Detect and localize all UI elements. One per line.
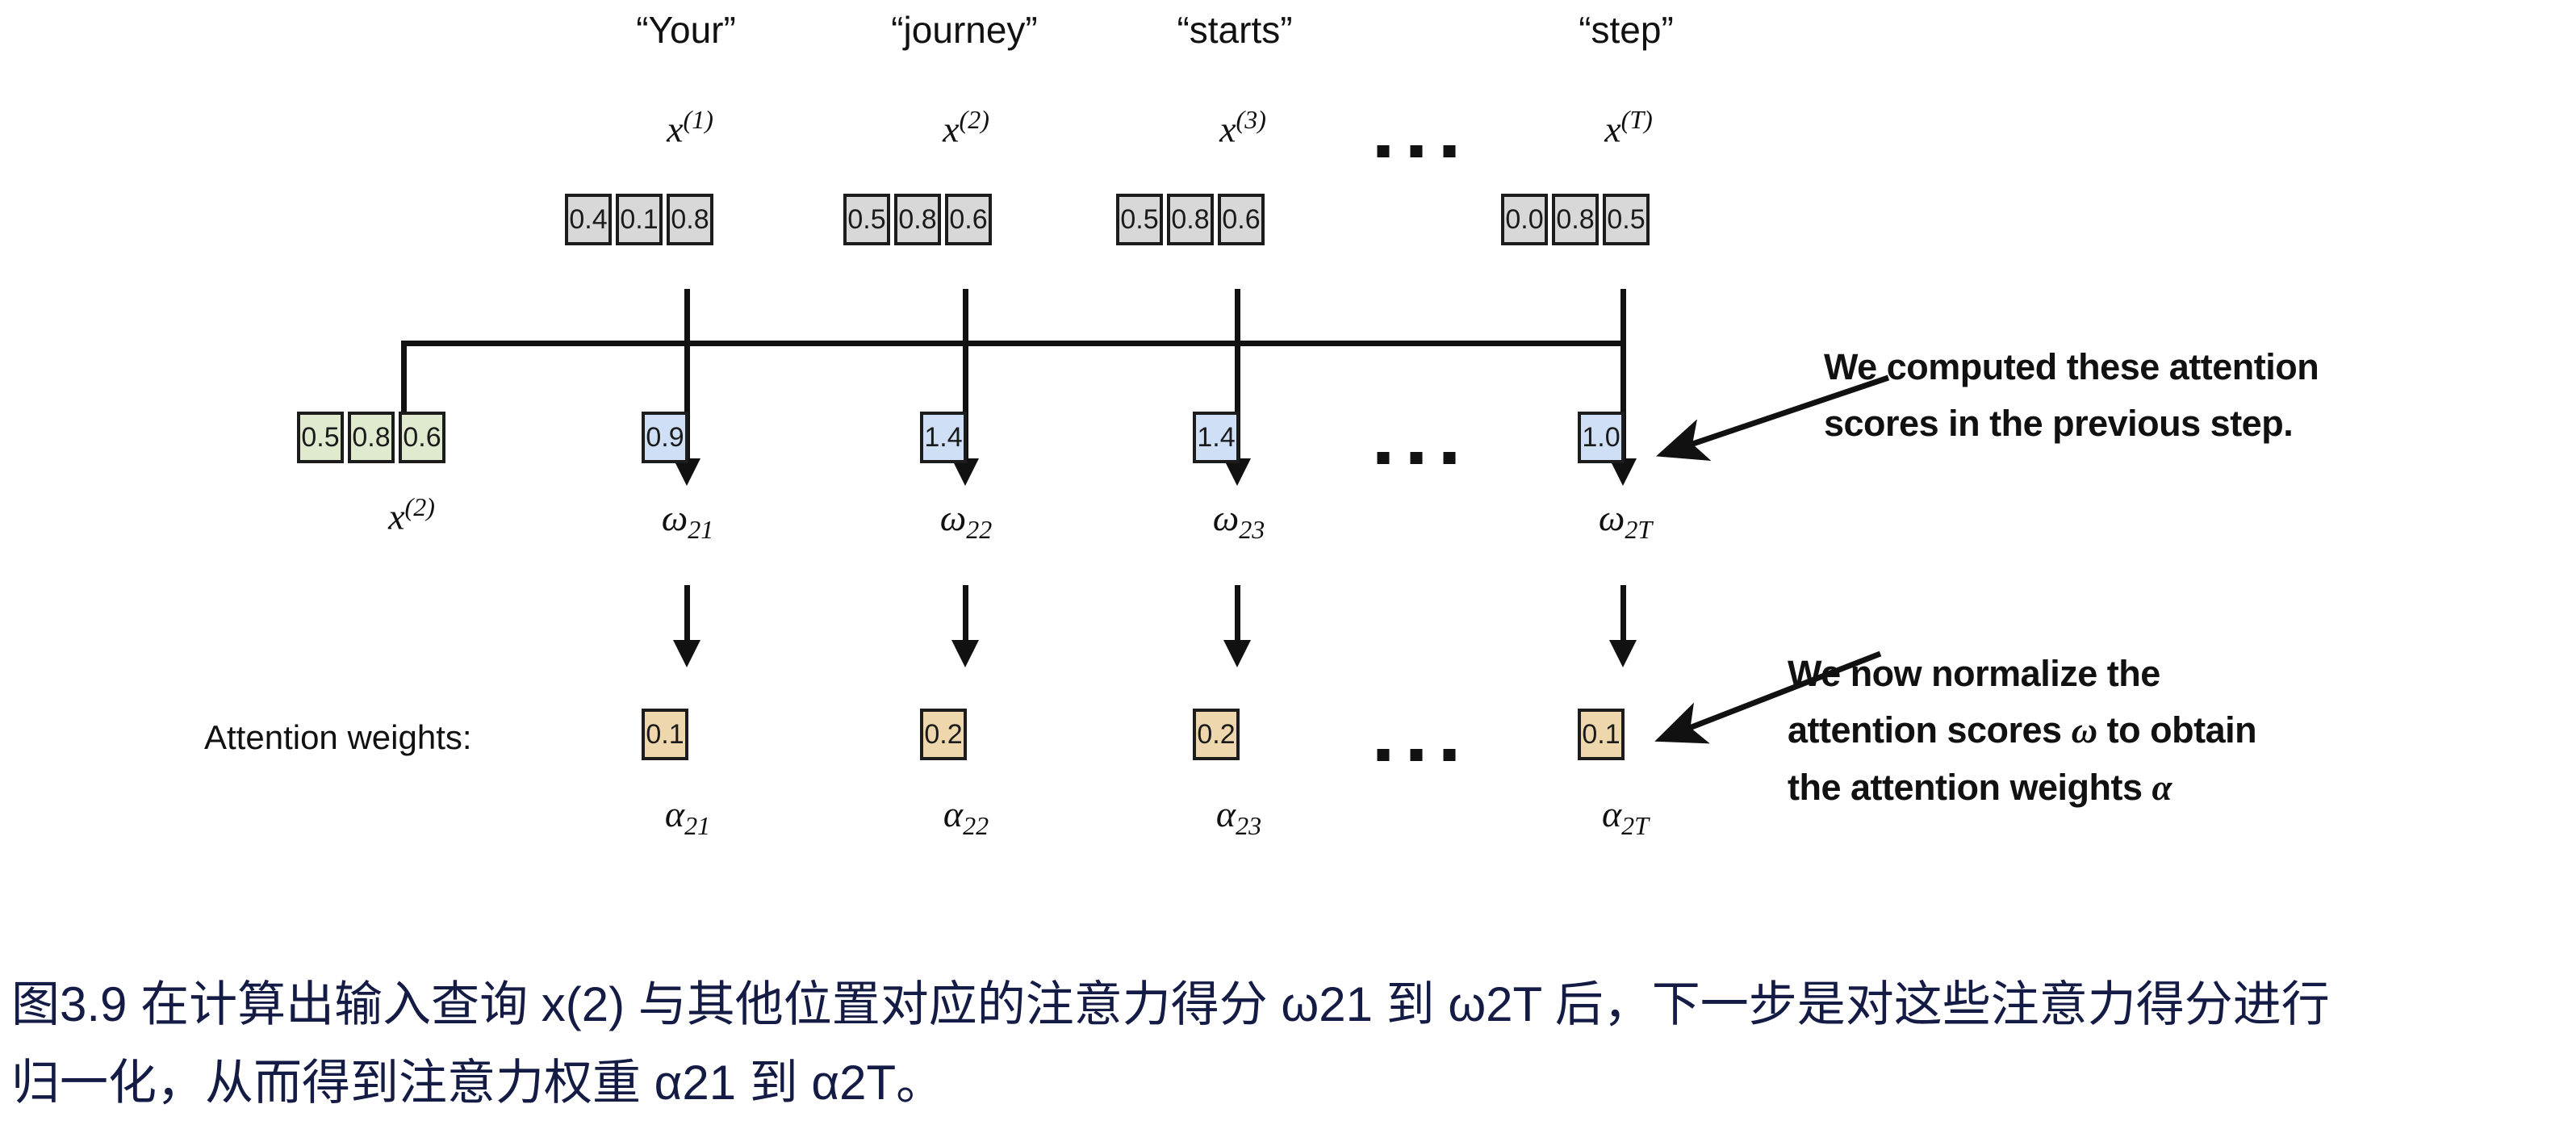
query-symbol-base: x bbox=[388, 496, 404, 537]
weight-connector-arrowhead-3 bbox=[1223, 640, 1251, 667]
ellipsis-weight-row bbox=[1378, 749, 1456, 761]
figure-caption: 图3.9 在计算出输入查询 x(2) 与其他位置对应的注意力得分 ω21 到 ω… bbox=[11, 965, 2570, 1122]
weight-label-base-2: α bbox=[943, 793, 963, 834]
weight-connector-line-1 bbox=[684, 585, 690, 646]
score-label-4: ω2T bbox=[1599, 496, 1652, 545]
weight-label-sub-3: 23 bbox=[1236, 811, 1261, 840]
token-word-1: “Your” bbox=[636, 8, 736, 52]
scores-note-line-1: We computed these attention bbox=[1824, 339, 2319, 395]
ellipsis-top-row bbox=[1378, 145, 1456, 157]
embedding-cell: 0.1 bbox=[616, 194, 663, 245]
weight-label-base-4: α bbox=[1602, 793, 1621, 834]
query-cell: 0.6 bbox=[399, 412, 445, 463]
weight-cell: 0.2 bbox=[1193, 709, 1240, 760]
ellipsis-score-row bbox=[1378, 452, 1456, 464]
embedding-cell: 0.5 bbox=[1116, 194, 1163, 245]
weight-connector-line-4 bbox=[1620, 585, 1626, 646]
attention-weights-label: Attention weights: bbox=[204, 718, 472, 757]
token-symbol-base-2: x bbox=[943, 108, 959, 149]
query-vector-row: 0.5 0.8 0.6 bbox=[297, 412, 445, 463]
token-symbol-base-3: x bbox=[1219, 108, 1236, 149]
token-symbol-3: x(3) bbox=[1219, 105, 1266, 150]
weight-label-3: α23 bbox=[1216, 793, 1261, 841]
token-symbol-2: x(2) bbox=[943, 105, 989, 150]
score-cell: 1.4 bbox=[1193, 412, 1240, 463]
bus-horizontal-line bbox=[401, 341, 1624, 346]
embedding-cell: 0.8 bbox=[1552, 194, 1599, 245]
score-label-sub-4: 2T bbox=[1625, 515, 1652, 544]
score-label-sub-1: 21 bbox=[688, 515, 713, 544]
token-word-3: “starts” bbox=[1177, 8, 1292, 52]
alpha-symbol: α bbox=[2152, 767, 2172, 808]
score-box-2: 1.4 bbox=[920, 412, 967, 463]
weight-label-4: α2T bbox=[1602, 793, 1649, 841]
embedding-cell: 0.6 bbox=[1218, 194, 1265, 245]
score-cell: 1.0 bbox=[1578, 412, 1625, 463]
score-label-2: ω22 bbox=[940, 496, 992, 545]
score-label-base-1: ω bbox=[662, 497, 688, 538]
scores-note-line-2: scores in the previous step. bbox=[1824, 395, 2319, 452]
weight-box-1: 0.1 bbox=[642, 709, 688, 760]
weight-label-base-1: α bbox=[665, 793, 684, 834]
weights-note-line-1: We now normalize the bbox=[1788, 646, 2256, 702]
embedding-row-3: 0.5 0.8 0.6 bbox=[1116, 194, 1265, 245]
weight-cell: 0.2 bbox=[920, 709, 967, 760]
embedding-cell: 0.8 bbox=[1167, 194, 1214, 245]
weight-label-sub-1: 21 bbox=[684, 811, 710, 840]
weight-label-base-3: α bbox=[1216, 793, 1236, 834]
embedding-cell: 0.6 bbox=[945, 194, 992, 245]
score-label-1: ω21 bbox=[662, 496, 713, 545]
omega-symbol: ω bbox=[2072, 710, 2097, 751]
token-word-2: “journey” bbox=[891, 8, 1038, 52]
weights-note-line-3-a: the attention weights bbox=[1788, 767, 2152, 808]
embedding-cell: 0.4 bbox=[565, 194, 612, 245]
weight-connector-arrowhead-1 bbox=[673, 640, 700, 667]
token-symbol-1: x(1) bbox=[667, 105, 713, 150]
score-box-4: 1.0 bbox=[1578, 412, 1625, 463]
token-symbol-sup-2: (2) bbox=[960, 105, 989, 134]
weight-cell: 0.1 bbox=[642, 709, 688, 760]
score-label-sub-3: 23 bbox=[1239, 515, 1265, 544]
weights-note-line-2: attention scores ω to obtain bbox=[1788, 702, 2256, 759]
query-symbol-sup: (2) bbox=[405, 492, 435, 521]
embedding-row-2: 0.5 0.8 0.6 bbox=[843, 194, 992, 245]
caption-line-1: 图3.9 在计算出输入查询 x(2) 与其他位置对应的注意力得分 ω21 到 ω… bbox=[11, 965, 2570, 1043]
token-symbol-base-4: x bbox=[1604, 108, 1620, 149]
token-symbol-sup-3: (3) bbox=[1236, 105, 1266, 134]
score-label-base-2: ω bbox=[940, 497, 966, 538]
score-box-1: 0.9 bbox=[642, 412, 688, 463]
caption-line-2: 归一化，从而得到注意力权重 α21 到 α2T。 bbox=[11, 1043, 2570, 1122]
weights-note-line-2-b: to obtain bbox=[2097, 709, 2256, 751]
weight-box-4: 0.1 bbox=[1578, 709, 1625, 760]
embedding-cell: 0.8 bbox=[894, 194, 941, 245]
scores-annotation-note: We computed these attention scores in th… bbox=[1824, 339, 2319, 452]
embedding-row-4: 0.0 0.8 0.5 bbox=[1501, 194, 1650, 245]
embedding-row-1: 0.4 0.1 0.8 bbox=[565, 194, 713, 245]
weight-label-sub-2: 22 bbox=[963, 811, 989, 840]
weight-connector-arrowhead-2 bbox=[951, 640, 979, 667]
score-cell: 1.4 bbox=[920, 412, 967, 463]
query-cell: 0.5 bbox=[297, 412, 344, 463]
weight-label-sub-4: 2T bbox=[1621, 811, 1649, 840]
weight-connector-line-2 bbox=[963, 585, 968, 646]
token-symbol-sup-4: (T) bbox=[1621, 105, 1653, 134]
weight-label-2: α22 bbox=[943, 793, 989, 841]
weight-label-1: α21 bbox=[665, 793, 710, 841]
weights-annotation-note: We now normalize the attention scores ω … bbox=[1788, 646, 2256, 816]
embedding-cell: 0.5 bbox=[1603, 194, 1650, 245]
query-symbol-label: x(2) bbox=[388, 492, 435, 537]
weight-cell: 0.1 bbox=[1578, 709, 1625, 760]
weight-box-2: 0.2 bbox=[920, 709, 967, 760]
embedding-cell: 0.8 bbox=[667, 194, 713, 245]
figure-canvas: “Your” “journey” “starts” “step” x(1) x(… bbox=[0, 0, 2576, 1125]
score-label-3: ω23 bbox=[1213, 496, 1265, 545]
score-cell: 0.9 bbox=[642, 412, 688, 463]
weight-box-3: 0.2 bbox=[1193, 709, 1240, 760]
embedding-cell: 0.5 bbox=[843, 194, 890, 245]
score-label-base-4: ω bbox=[1599, 497, 1625, 538]
score-label-sub-2: 22 bbox=[966, 515, 992, 544]
token-symbol-sup-1: (1) bbox=[684, 105, 713, 134]
token-symbol-base-1: x bbox=[667, 108, 683, 149]
embedding-cell: 0.0 bbox=[1501, 194, 1548, 245]
weight-connector-line-3 bbox=[1235, 585, 1240, 646]
query-cell: 0.8 bbox=[348, 412, 395, 463]
weights-note-line-2-a: attention scores bbox=[1788, 709, 2072, 751]
token-symbol-4: x(T) bbox=[1604, 105, 1653, 150]
weights-note-line-3: the attention weights α bbox=[1788, 759, 2256, 817]
score-label-base-3: ω bbox=[1213, 497, 1239, 538]
token-word-4: “step” bbox=[1579, 8, 1674, 52]
score-box-3: 1.4 bbox=[1193, 412, 1240, 463]
